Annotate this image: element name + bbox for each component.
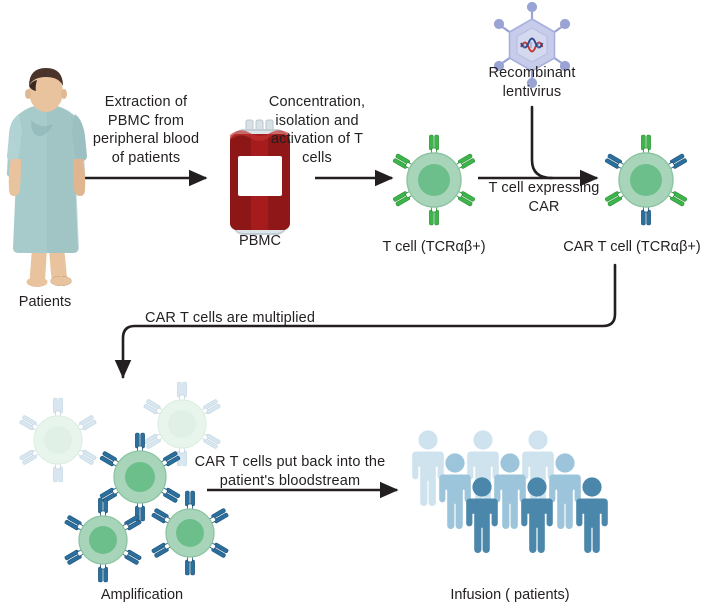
patient-in-gown-icon [7,68,87,287]
arrow-label-concentration: Concentration, isolation and activation … [258,93,376,167]
caption-pbmc: PBMC [210,232,310,250]
arrow-label-transduction: T cell expressing CAR [474,179,614,216]
t-cell-icon [393,135,476,225]
caption-infusion: Infusion ( patients) [410,586,610,604]
arrow-label-reinfusion: CAR T cells put back into the patient's … [176,453,404,490]
caption-patients: Patients [0,293,90,311]
caption-lentivirus: Recombinant lentivirus [462,64,602,101]
caption-t-cell: T cell (TCRαβ+) [364,238,504,256]
car-t-cell-icon [605,135,688,225]
patient-group-icon [412,430,608,553]
caption-car-t-cell: CAR T cell (TCRαβ+) [556,238,708,256]
arrow-label-extraction: Extraction of PBMC from peripheral blood… [81,93,211,167]
arrow-lentivirus-to-tcell [532,107,552,178]
diagram-canvas: Extraction of PBMC from peripheral blood… [0,0,708,611]
arrow-label-multiplication: CAR T cells are multiplied [145,309,385,328]
caption-amplification: Amplification [62,586,222,604]
